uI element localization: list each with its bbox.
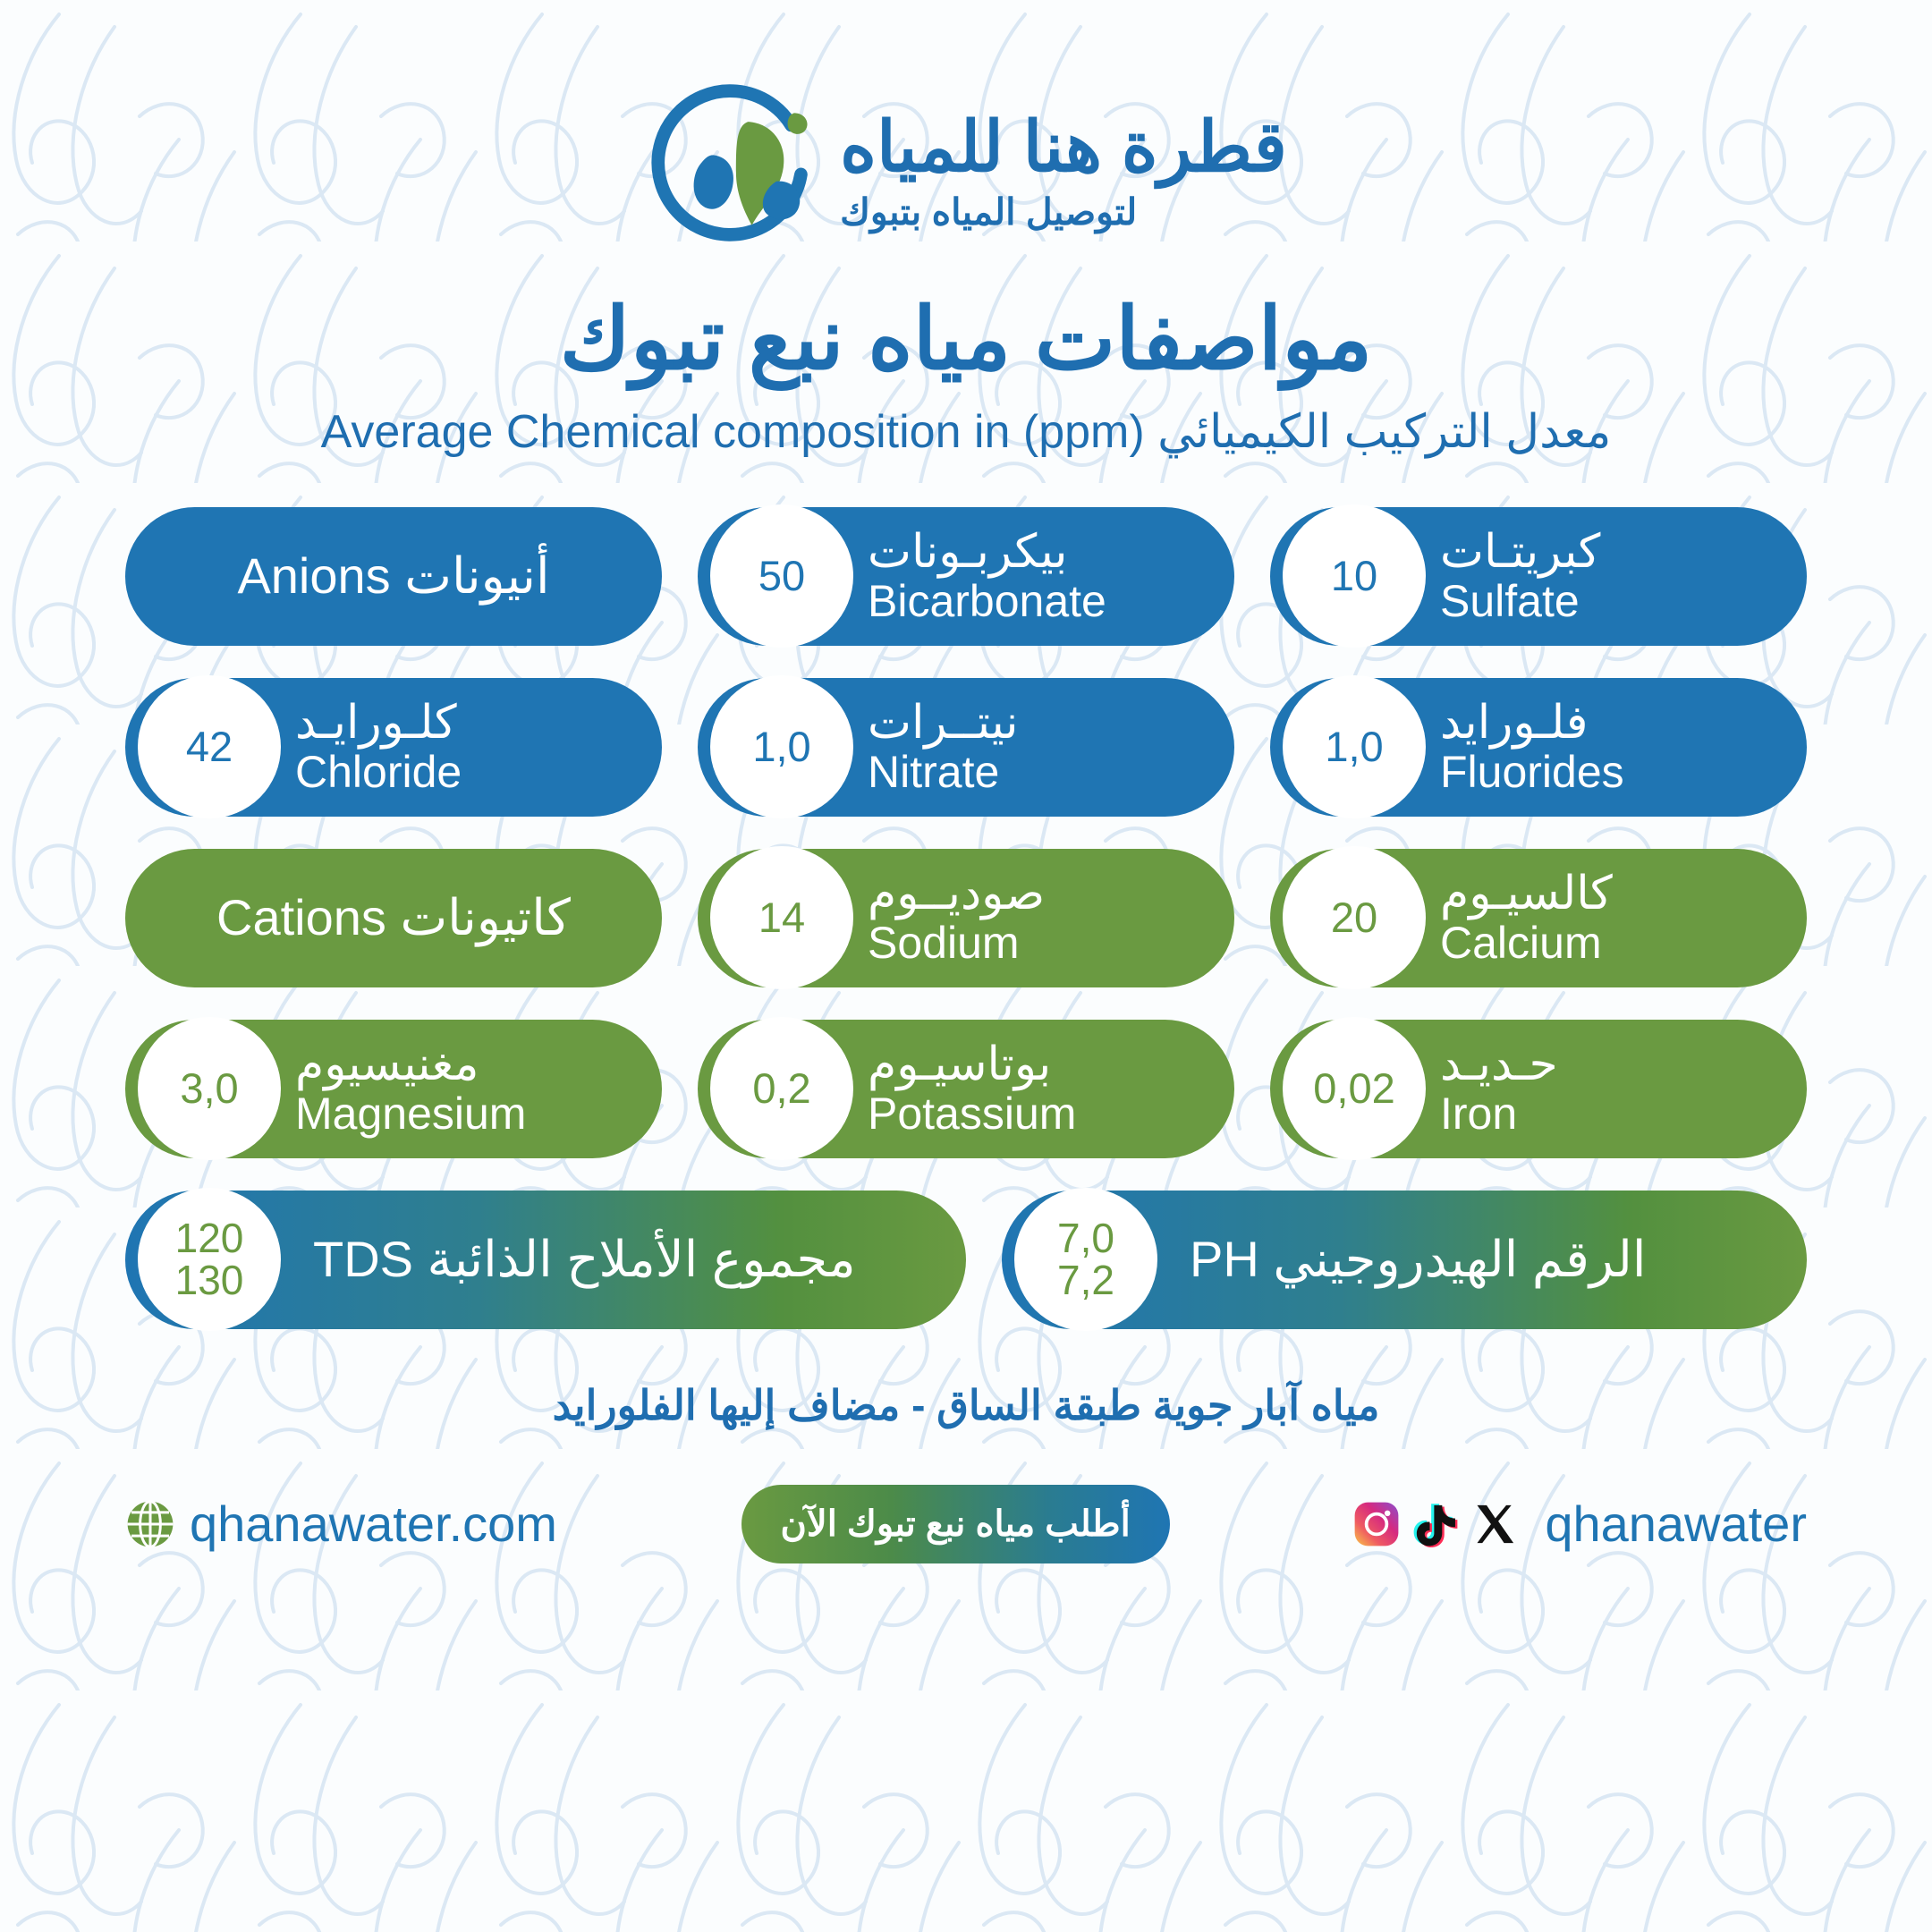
- website-url: qhanawater.com: [190, 1495, 557, 1553]
- value-bubble: 0,02: [1283, 1017, 1426, 1160]
- grid-row: 7,0 7,2 الرقم الهيدروجيني PH 120 130 مجم…: [125, 1191, 1807, 1329]
- label-cations: كاتيونات Cations: [216, 893, 571, 943]
- value-number-bottom: 130: [175, 1259, 244, 1301]
- pill-iron[interactable]: 0,02 حـديـد Iron: [1270, 1020, 1807, 1158]
- pill-labels: كبريتـات Sulfate: [1440, 527, 1764, 625]
- footer: qhanawater.com أطلب مياه نبع تبوك الآن: [125, 1485, 1807, 1563]
- value-bubble: 14: [710, 846, 853, 989]
- grid-row: 0,02 حـديـد Iron 0,2 بوتاسيـوم Potassium: [125, 1020, 1807, 1158]
- pill-labels: كلـورايـد Chloride: [295, 698, 619, 796]
- label-english: Nitrate: [868, 748, 999, 796]
- source-note: مياه آبار جوية طبقة الساق - مضاف إليها ا…: [553, 1381, 1380, 1429]
- label-arabic: كالسيـوم: [1440, 869, 1613, 919]
- pill-anions-header[interactable]: أنيونات Anions: [125, 507, 662, 646]
- value-bubble: 0,2: [710, 1017, 853, 1160]
- label-english: Sulfate: [1440, 577, 1580, 625]
- label-english: Potassium: [868, 1089, 1076, 1138]
- pill-calcium[interactable]: 20 كالسيـوم Calcium: [1270, 849, 1807, 987]
- globe-icon: [125, 1499, 175, 1549]
- label-arabic: نيتــرات: [868, 698, 1018, 748]
- social-icon-group: [1353, 1501, 1518, 1547]
- value-number: 0,2: [752, 1067, 810, 1110]
- pill-ph[interactable]: 7,0 7,2 الرقم الهيدروجيني PH: [1002, 1191, 1807, 1329]
- label-english: Sodium: [868, 919, 1020, 967]
- order-now-button[interactable]: أطلب مياه نبع تبوك الآن: [741, 1485, 1170, 1563]
- social-links: qhanawater: [1353, 1495, 1807, 1553]
- label-arabic: بيكربـونات: [868, 527, 1067, 577]
- value-number: 0,02: [1313, 1067, 1394, 1110]
- page-title: مواصفات مياه نبع تبوك: [560, 295, 1373, 386]
- website-link[interactable]: qhanawater.com: [125, 1495, 557, 1553]
- value-bubble: 1,0: [1283, 675, 1426, 818]
- pill-labels: فلـورايد Fluorides: [1440, 698, 1764, 796]
- value-bubble: 20: [1283, 846, 1426, 989]
- pill-cations-header[interactable]: كاتيونات Cations: [125, 849, 662, 987]
- pill-tds[interactable]: 120 130 مجموع الأملاح الذائبة TDS: [125, 1191, 966, 1329]
- value-bubble: 42: [138, 675, 281, 818]
- pill-magnesium[interactable]: 3,0 مغنيسيوم Magnesium: [125, 1020, 662, 1158]
- x-twitter-icon[interactable]: [1471, 1501, 1518, 1547]
- label-english: Bicarbonate: [868, 577, 1106, 625]
- label-arabic: بوتاسيـوم: [868, 1039, 1051, 1089]
- label-arabic: صوديــوم: [868, 869, 1045, 919]
- pill-labels: بوتاسيـوم Potassium: [868, 1039, 1191, 1138]
- label-anions: أنيونات Anions: [237, 551, 549, 601]
- instagram-icon[interactable]: [1353, 1501, 1400, 1547]
- label-arabic: كلـورايـد: [295, 698, 457, 748]
- value-number-top: 7,0: [1057, 1217, 1114, 1259]
- pill-labels: نيتــرات Nitrate: [868, 698, 1191, 796]
- pill-labels: كالسيـوم Calcium: [1440, 869, 1764, 967]
- pill-bicarbonate[interactable]: 50 بيكربـونات Bicarbonate: [698, 507, 1234, 646]
- label-arabic: حـديـد: [1440, 1039, 1558, 1089]
- grid-row: 20 كالسيـوم Calcium 14 صوديــوم Sodium ك…: [125, 849, 1807, 987]
- pill-chloride[interactable]: 42 كلـورايـد Chloride: [125, 678, 662, 817]
- pill-labels: بيكربـونات Bicarbonate: [868, 527, 1191, 625]
- brand-tagline: لتوصيل المياه بتبوك: [840, 194, 1137, 231]
- pill-labels: الرقم الهيدروجيني PH: [1190, 1233, 1755, 1286]
- pill-sodium[interactable]: 14 صوديــوم Sodium: [698, 849, 1234, 987]
- pill-labels: مغنيسيوم Magnesium: [295, 1039, 619, 1138]
- label-arabic: مغنيسيوم: [295, 1039, 479, 1089]
- value-bubble: 10: [1283, 504, 1426, 648]
- label-arabic: فلـورايد: [1440, 698, 1589, 748]
- value-number: 1,0: [1325, 725, 1383, 768]
- pill-fluorides[interactable]: 1,0 فلـورايد Fluorides: [1270, 678, 1807, 817]
- brand-name: قطرة هنا للمياه: [840, 112, 1287, 182]
- pill-potassium[interactable]: 0,2 بوتاسيـوم Potassium: [698, 1020, 1234, 1158]
- tiktok-icon[interactable]: [1412, 1501, 1459, 1547]
- value-number: 1,0: [752, 725, 810, 768]
- label-english: Magnesium: [295, 1089, 526, 1138]
- value-number: 42: [186, 725, 233, 768]
- pill-labels: مجموع الأملاح الذائبة TDS: [313, 1233, 914, 1286]
- label-tds: مجموع الأملاح الذائبة TDS: [313, 1233, 856, 1286]
- brand-text-block: قطرة هنا للمياه لتوصيل المياه بتبوك: [840, 112, 1287, 231]
- social-handle: qhanawater: [1545, 1495, 1807, 1553]
- label-english: Fluorides: [1440, 748, 1624, 796]
- value-number: 10: [1331, 555, 1377, 597]
- value-number: 3,0: [180, 1067, 238, 1110]
- value-number: 20: [1331, 896, 1377, 939]
- pill-sulfate[interactable]: 10 كبريتـات Sulfate: [1270, 507, 1807, 646]
- label-arabic: كبريتـات: [1440, 527, 1600, 577]
- water-droplet-logo-icon: [645, 83, 820, 258]
- label-ph: الرقم الهيدروجيني PH: [1190, 1233, 1646, 1286]
- value-number-top: 120: [175, 1217, 244, 1259]
- label-english: Chloride: [295, 748, 462, 796]
- label-english: Iron: [1440, 1089, 1517, 1138]
- pill-nitrate[interactable]: 1,0 نيتــرات Nitrate: [698, 678, 1234, 817]
- grid-row: 10 كبريتـات Sulfate 50 بيكربـونات Bicarb…: [125, 507, 1807, 646]
- value-bubble: 50: [710, 504, 853, 648]
- page-subtitle: معدل التركيب الكيميائي (ppm) Average Che…: [321, 405, 1612, 459]
- label-english: Calcium: [1440, 919, 1602, 967]
- pill-labels: حـديـد Iron: [1440, 1039, 1764, 1138]
- composition-grid: 10 كبريتـات Sulfate 50 بيكربـونات Bicarb…: [125, 507, 1807, 1329]
- value-number: 14: [758, 896, 805, 939]
- grid-row: 1,0 فلـورايد Fluorides 1,0 نيتــرات Nitr…: [125, 678, 1807, 817]
- value-bubble: 1,0: [710, 675, 853, 818]
- value-number: 50: [758, 555, 805, 597]
- pill-labels: صوديــوم Sodium: [868, 869, 1191, 967]
- value-bubble: 3,0: [138, 1017, 281, 1160]
- brand-header: قطرة هنا للمياه لتوصيل المياه بتبوك: [645, 86, 1287, 256]
- value-number-bottom: 7,2: [1057, 1259, 1114, 1301]
- value-bubble: 120 130: [138, 1188, 281, 1331]
- order-now-label: أطلب مياه نبع تبوك الآن: [781, 1504, 1131, 1545]
- value-bubble: 7,0 7,2: [1014, 1188, 1157, 1331]
